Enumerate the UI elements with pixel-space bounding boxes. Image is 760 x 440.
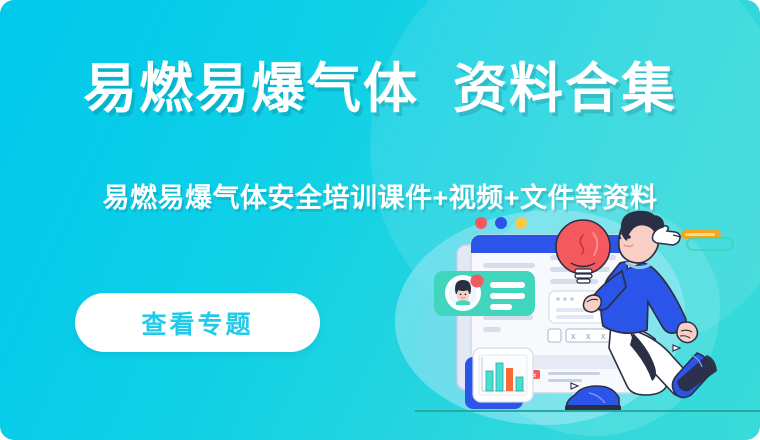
- notification-dot: [471, 275, 484, 288]
- chart-card: [465, 348, 533, 409]
- hand-right: [677, 322, 698, 343]
- hero-illustration: x x x x x: [415, 205, 760, 440]
- view-topic-button[interactable]: 查看专题: [75, 293, 320, 352]
- profile-card: [434, 271, 535, 316]
- window-dots-icon: [475, 217, 527, 229]
- outline-pill: [687, 238, 733, 250]
- page-title: 易燃易爆气体 资料合集: [0, 58, 760, 120]
- promo-banner: 易燃易爆气体 资料合集 易燃易爆气体安全培训课件+视频+文件等资料 查看专题: [0, 0, 760, 440]
